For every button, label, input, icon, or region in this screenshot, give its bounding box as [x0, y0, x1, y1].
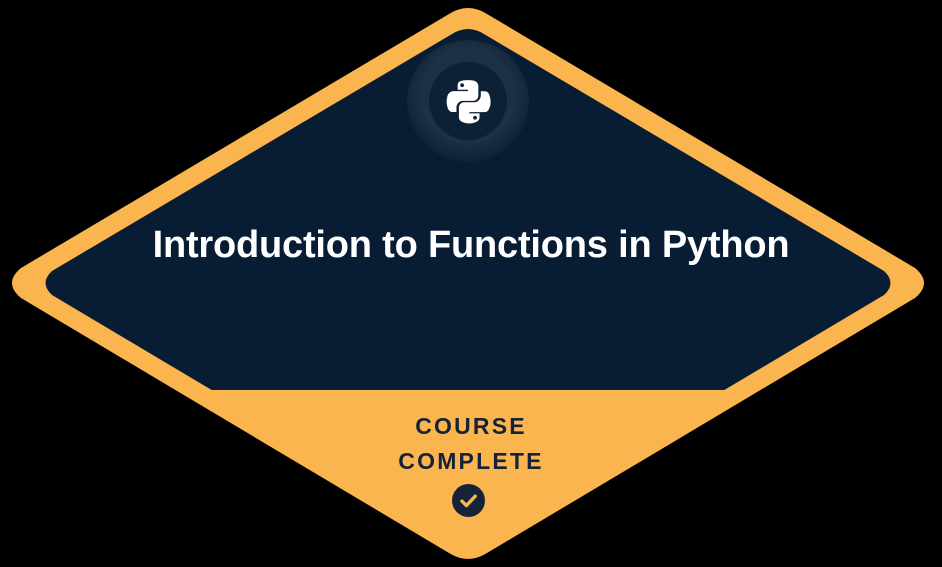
diamond-svg: [0, 0, 942, 567]
diamond-navy-panel: [0, 0, 942, 390]
course-completion-badge: Introduction to Functions in Python COUR…: [0, 0, 942, 567]
badge-diamond-shape: [0, 0, 942, 567]
